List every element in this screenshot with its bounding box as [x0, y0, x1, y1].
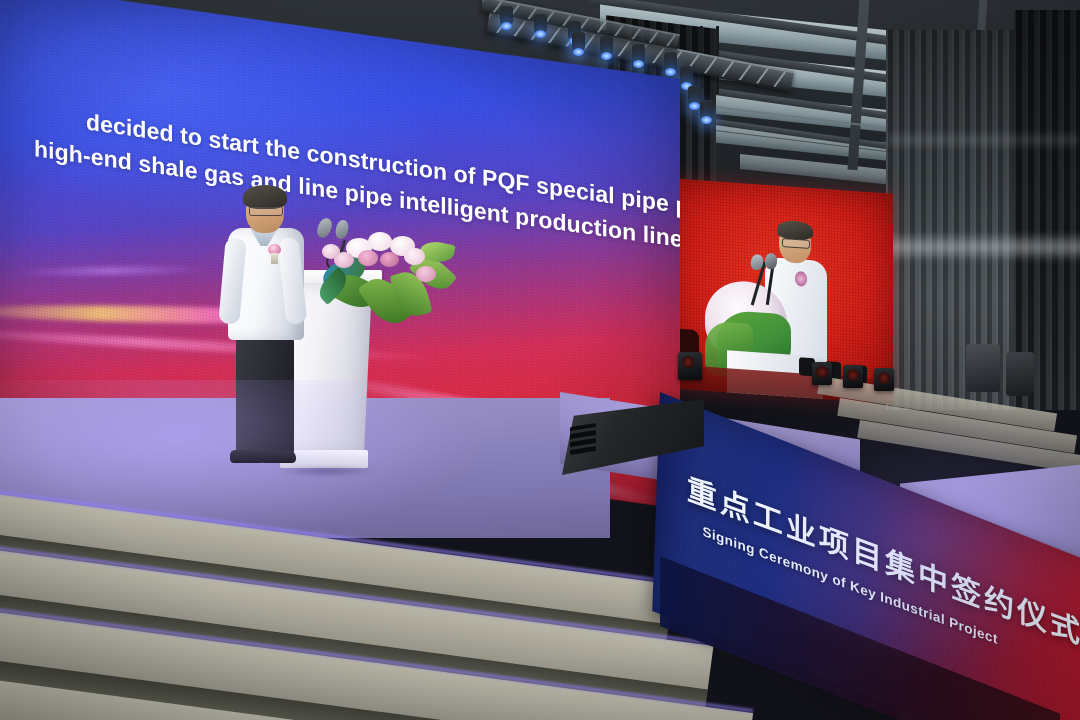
floor-moving-head	[812, 362, 832, 385]
curtain-light-band	[888, 130, 1078, 150]
moving-head-light	[664, 52, 677, 72]
stage-photograph: decided to start the construction of PQF…	[0, 0, 1080, 720]
moving-head-light	[572, 32, 585, 52]
curtain-light-band	[886, 232, 1080, 262]
floor-moving-head	[843, 365, 863, 388]
moving-head-light	[680, 66, 693, 86]
presenter-shoe	[260, 450, 296, 463]
presenter-corsage	[268, 244, 281, 264]
moving-head-light	[534, 14, 547, 34]
flower-petal	[322, 244, 340, 259]
flower-petal	[380, 252, 399, 267]
backstage-case	[1006, 352, 1034, 396]
presenter-at-podium	[222, 188, 312, 473]
feed-glasses	[782, 238, 810, 249]
backstage-case	[966, 344, 1000, 392]
flower-petal	[358, 250, 378, 266]
monitor-grille	[570, 423, 596, 455]
moving-head-light	[500, 6, 513, 26]
moving-head-light	[700, 100, 713, 120]
stage-monitor-speaker	[556, 399, 704, 475]
presenter-glasses	[249, 206, 283, 216]
moving-head-light	[632, 44, 645, 64]
feed-corsage	[795, 271, 807, 287]
flower-petal	[368, 232, 392, 251]
floor-moving-head	[874, 368, 894, 391]
moving-head-light	[600, 36, 613, 56]
flower-petal	[404, 248, 425, 265]
presenter-legs	[236, 336, 294, 454]
flower-petal	[416, 266, 436, 282]
floor-moving-head	[678, 352, 702, 380]
podium-flower-arrangement	[316, 232, 452, 337]
curtain-far-right	[1014, 10, 1080, 410]
presenter-shoe	[230, 450, 264, 463]
